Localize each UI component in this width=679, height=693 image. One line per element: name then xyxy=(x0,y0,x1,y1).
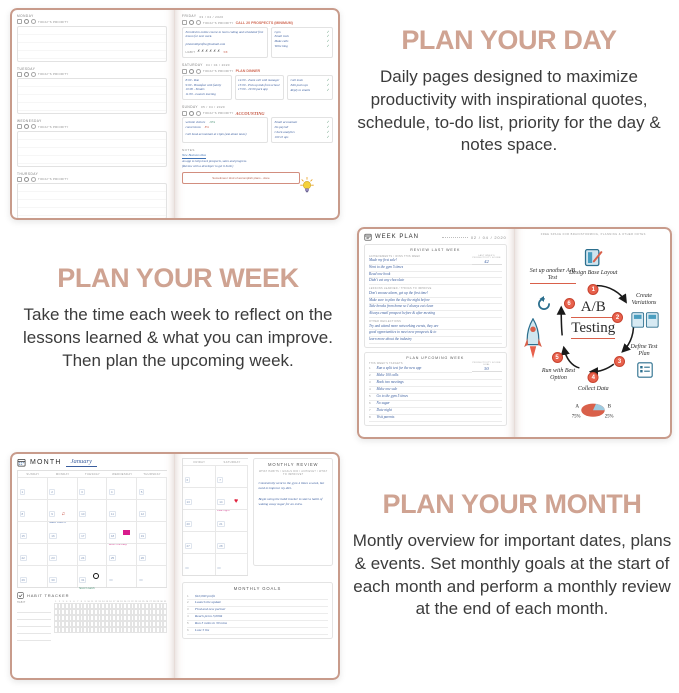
metric-value: 10% xyxy=(209,120,215,125)
habit-cell[interactable] xyxy=(163,627,167,633)
day-meta: TODAY'S PRIORITY xyxy=(17,19,167,24)
day-name: THURSDAY xyxy=(17,172,167,176)
day-notes-area xyxy=(17,78,167,114)
calendar-cell[interactable]: 4 xyxy=(107,477,137,499)
calendar-icon xyxy=(17,458,26,467)
target-item: 5Go to the gym 5 times xyxy=(369,394,502,401)
cloud-icon xyxy=(17,19,22,24)
habit-cell-area: 1234567891011121314151617181920212223242… xyxy=(54,601,167,641)
monthly-review-caption: WHAT HABITS / GOALS DID I ACHIEVE? / WHA… xyxy=(258,470,328,476)
goal-text: $10,000 profit xyxy=(195,594,215,600)
calendar-cell[interactable]: 27 xyxy=(183,531,216,553)
ab-testing-diagram: A/B Testing Design Base Layout 1 Create … xyxy=(522,240,666,405)
day-block: THURSDAY TODAY'S PRIORITY xyxy=(17,172,167,220)
date-number: 14 xyxy=(217,499,224,505)
notes-title: NOTES xyxy=(182,148,333,152)
habit-name-line[interactable] xyxy=(17,634,51,641)
goal-text: Lose 5 lbs xyxy=(195,628,209,634)
day-headline: PLAN YOUR DAY xyxy=(344,26,674,54)
goal-number: 6 xyxy=(187,628,192,634)
target-text: Make one sale xyxy=(377,387,398,393)
step-label-5: Run with Best Option xyxy=(542,368,576,382)
schedule-item: 11:00 - Launch meeting xyxy=(186,92,229,97)
cloud-icon xyxy=(182,111,187,116)
day-header: SUNDAY 05 / 04 / 2020 xyxy=(182,105,333,110)
metric-label: conversions xyxy=(186,125,201,130)
day-date: 05 / 04 / 2020 xyxy=(201,105,225,109)
habit-name-line[interactable] xyxy=(17,627,51,634)
day-email: johnsmithprofile@hotmail.com xyxy=(186,42,265,47)
calendar-cell[interactable]: 24 xyxy=(78,543,108,565)
day-date: 03 / 04 / 2020 xyxy=(199,15,223,19)
metric-value: 8% xyxy=(205,125,209,130)
calendar-cell[interactable]: 21 xyxy=(216,509,249,531)
calendar-cell[interactable] xyxy=(216,553,249,575)
calendar-cell[interactable]: 1 xyxy=(18,477,48,499)
step-label-4: Collect Data xyxy=(569,386,617,393)
day-name: SATURDAY xyxy=(182,63,203,67)
habit-tracker-header: HABIT TRACKER xyxy=(17,592,167,599)
lesson-item: Make sure to plan the day the night befo… xyxy=(369,298,502,305)
target-number: 1 xyxy=(369,366,374,372)
goal-number: 4 xyxy=(187,614,192,620)
upcoming-title: PLAN UPCOMING WEEK xyxy=(369,356,502,360)
metric-row: conversions 8% xyxy=(186,125,265,130)
date-number: 18 xyxy=(109,533,116,539)
notes-heading: New Business Idea xyxy=(182,153,206,159)
day-name: SUNDAY xyxy=(182,105,198,109)
plan-your-week-text: PLAN YOUR WEEK Take the time each week t… xyxy=(8,264,348,372)
moon-icon xyxy=(24,72,29,77)
calendar-icon xyxy=(364,233,372,241)
goal-text: Find and new partner xyxy=(195,607,226,613)
pie-chart-icon: A B 75% 25% xyxy=(571,397,615,419)
calendar-cell[interactable]: 15 xyxy=(18,521,48,543)
month-title: MONTH xyxy=(30,459,62,466)
date-number xyxy=(139,579,143,581)
day-todo-box: Call mom✓ Edit push ups✓ Reply to emails… xyxy=(287,75,333,100)
date-number: 3 xyxy=(79,489,85,495)
calendar-grid-right: FRIDAY SATURDAY 6 7 13 14 ♥ Date night 2… xyxy=(182,458,248,576)
step-node-5: 5 xyxy=(552,352,563,363)
habit-name-column: HABIT xyxy=(17,601,51,641)
calendar-cell[interactable]: 7 xyxy=(216,465,249,487)
layout-icon xyxy=(583,248,603,268)
today-priority-label: TODAY'S PRIORITY xyxy=(203,111,234,115)
schedule-box-am: 8:00 - Run 9:00 - Breakfast with family … xyxy=(182,75,232,100)
date-number: 4 xyxy=(109,489,115,495)
day-block-friday: FRIDAY 03 / 04 / 2020 TODAY'S PRIORITY C… xyxy=(182,14,333,58)
moon-icon xyxy=(189,69,194,74)
month-header: MONTH January xyxy=(17,458,167,467)
goal-text: Reach press 3,000k xyxy=(195,614,222,620)
date-number: 28 xyxy=(217,543,224,549)
calendar-grid-left: SUNDAY MONDAY TUESDAY WEDNESDAY THURSDAY… xyxy=(17,470,167,588)
goal-item: 1$10,000 profit xyxy=(187,594,328,601)
target-text: Book two meetings xyxy=(377,380,404,386)
schedule-box-pm: 14:00 - Zoom call with manager 15:00 - P… xyxy=(235,75,285,100)
goal-item: 2Launch the update xyxy=(187,600,328,607)
today-priority-label: TODAY'S PRIORITY xyxy=(38,20,69,24)
calendar-cell[interactable]: 13 xyxy=(183,487,216,509)
day-meta: TODAY'S PRIORITY xyxy=(17,177,167,182)
goal-number: 2 xyxy=(187,600,192,606)
checkbox-icon xyxy=(17,592,24,599)
day-priority: CALL 20 PROSPECTS (MINIMUM) xyxy=(236,21,293,25)
step-node-6: 6 xyxy=(564,298,575,309)
date-number: 12 xyxy=(139,511,146,517)
sun-icon xyxy=(196,20,201,25)
goal-number: 5 xyxy=(187,621,192,627)
pie-label-b: B xyxy=(608,403,612,409)
target-number: 3 xyxy=(369,380,374,386)
month-headline: PLAN YOUR MONTH xyxy=(348,490,676,518)
habit-rows xyxy=(54,603,167,633)
date-number: 24 xyxy=(79,555,86,561)
sun-icon xyxy=(196,69,201,74)
sun-icon xyxy=(31,177,36,182)
date-number: 15 xyxy=(20,533,27,539)
moon-icon xyxy=(24,177,29,182)
target-text: Visit parents xyxy=(377,415,395,421)
month-left-page: MONTH January SUNDAY MONDAY TUESDAY WEDN… xyxy=(10,452,175,680)
date-number: 27 xyxy=(185,543,192,549)
step-label-3: Define Test Plan xyxy=(627,344,661,358)
product-feature-page: MONDAY TODAY'S PRIORITY TUESDAY TODAY'S … xyxy=(0,0,679,693)
calendar-cell[interactable]: 23 xyxy=(48,543,78,565)
day-priority: PLAN DINNER xyxy=(236,69,261,73)
calendar-cell[interactable]: 9 ♫ Music concert xyxy=(48,499,78,521)
todo-item: Write blog✓ xyxy=(275,44,330,49)
day-date: 04 / 04 / 2020 xyxy=(206,63,230,67)
habit-marks: ✗✗✗✗✗✗ xyxy=(197,49,221,54)
quote-box: Sometimes I kind of accomplish plans - d… xyxy=(182,172,300,183)
checklist-icon xyxy=(637,362,653,378)
pie-value-a: 75% xyxy=(572,415,581,419)
calendar-cell[interactable]: 12 xyxy=(137,499,167,521)
day-meta: TODAY'S PRIORITY ACCOUNTING xyxy=(182,111,333,116)
goal-item: 3Find and new partner xyxy=(187,607,328,614)
sun-icon xyxy=(31,124,36,129)
target-number: 2 xyxy=(369,373,374,379)
todo-text: 100 x5 ups xyxy=(275,135,289,140)
step-node-4: 4 xyxy=(588,372,599,383)
today-priority-label: TODAY'S PRIORITY xyxy=(38,177,69,181)
plan-your-day-text: PLAN YOUR DAY Daily pages designed to ma… xyxy=(344,26,674,157)
moon-icon xyxy=(189,111,194,116)
date-number: 5 xyxy=(139,489,145,495)
calendar-cell[interactable]: 28 xyxy=(216,531,249,553)
sun-icon xyxy=(31,19,36,24)
heart-icon: ♥ xyxy=(234,498,238,505)
target-number: 5 xyxy=(369,394,374,400)
calendar-right-column: FRIDAY SATURDAY 6 7 13 14 ♥ Date night 2… xyxy=(182,458,248,576)
habit-label: HABIT xyxy=(186,50,196,54)
day-meta: TODAY'S PRIORITY PLAN DINNER xyxy=(182,69,333,74)
review-last-week-panel: REVIEW LAST WEEK LAST WEEK'S PRODUCTIVIT… xyxy=(364,244,507,348)
date-number: 17 xyxy=(79,533,86,539)
calendar-cell[interactable]: 14 ♥ Date night xyxy=(216,487,249,509)
day-block-sunday: SUNDAY 05 / 04 / 2020 TODAY'S PRIORITY A… xyxy=(182,105,333,143)
todo-item: 100 x5 ups✓ xyxy=(275,135,330,140)
week-date: 02 / 04 / 2020 xyxy=(471,235,507,240)
goal-number: 1 xyxy=(187,594,192,600)
month-right-columns: FRIDAY SATURDAY 6 7 13 14 ♥ Date night 2… xyxy=(182,458,333,576)
date-number: 30 xyxy=(49,577,56,583)
metric-note: Call book accountant at 11pm (ask about … xyxy=(186,132,265,137)
notes-body: New Business Idea An app to help track p… xyxy=(182,153,333,168)
date-number: 8 xyxy=(20,511,26,517)
target-item: 3Book two meetings xyxy=(369,380,502,387)
check-icon: ✓ xyxy=(327,44,330,49)
date-number: 26 xyxy=(139,555,146,561)
variations-icon xyxy=(631,312,659,330)
date-number: 11 xyxy=(109,511,116,517)
achievement-item: Didn't eat any chocolate xyxy=(369,278,502,285)
calendar-cell[interactable]: 30 xyxy=(48,565,78,587)
day-notes-area xyxy=(17,26,167,62)
target-text: Go to the gym 5 times xyxy=(377,394,408,400)
soccer-ball-icon xyxy=(93,573,99,579)
calendar-cell[interactable] xyxy=(107,565,137,587)
goal-text: Run 3 miles in 30 mins xyxy=(195,621,227,627)
daily-planner-photo: MONDAY TODAY'S PRIORITY TUESDAY TODAY'S … xyxy=(10,8,340,220)
plan-upcoming-week-panel: PLAN UPCOMING WEEK PRODUCTIVITY SCORE GO… xyxy=(364,352,507,426)
day-content-row: website visitors 10% conversions 8% Call… xyxy=(182,117,333,143)
goal-item: 6Lose 5 lbs xyxy=(187,628,328,635)
monthly-review-panel: MONTHLY REVIEW WHAT HABITS / GOALS DID I… xyxy=(253,458,333,566)
goal-text: Launch the update xyxy=(195,600,221,606)
step-node-2: 2 xyxy=(612,312,623,323)
cloud-icon xyxy=(17,72,22,77)
sun-icon xyxy=(31,72,36,77)
month-name: January xyxy=(66,458,97,467)
weekly-planner-photo: WEEK PLAN 02 / 04 / 2020 REVIEW LAST WEE… xyxy=(357,227,672,439)
habit-name-line[interactable] xyxy=(17,613,51,620)
day-block: TUESDAY TODAY'S PRIORITY xyxy=(17,67,167,115)
score-value: 42 xyxy=(472,259,502,264)
day-meta: TODAY'S PRIORITY CALL 20 PROSPECTS (MINI… xyxy=(182,20,333,25)
target-text: Make 100 calls xyxy=(377,373,399,379)
calendar-cell[interactable]: 5 xyxy=(137,477,167,499)
target-item: 6No sugar xyxy=(369,401,502,408)
habit-name-line[interactable] xyxy=(17,606,51,613)
date-number: 9 xyxy=(49,511,55,517)
music-note-icon: ♫ xyxy=(61,511,65,517)
week-plan-title: WEEK PLAN xyxy=(375,234,419,240)
target-text: Date night xyxy=(377,408,392,414)
calendar-cell[interactable]: 6 xyxy=(183,465,216,487)
calendar-cell[interactable] xyxy=(137,565,167,587)
center-line-2: Testing xyxy=(571,320,615,339)
reflection-item: Try and attend more networking events, t… xyxy=(369,324,502,331)
today-priority-label: TODAY'S PRIORITY xyxy=(38,125,69,129)
pie-label-a: A xyxy=(576,403,580,409)
calendar-event: Soccer match xyxy=(79,587,105,591)
date-number: 23 xyxy=(49,555,56,561)
month-right-page: FRIDAY SATURDAY 6 7 13 14 ♥ Date night 2… xyxy=(175,452,340,680)
calendar-cell[interactable] xyxy=(183,553,216,575)
review-title: REVIEW LAST WEEK xyxy=(369,248,502,252)
lesson-item: Always email prospect before & after mee… xyxy=(369,311,502,318)
target-item: 7Date night xyxy=(369,408,502,415)
calendar-cell[interactable]: 31 Soccer match xyxy=(78,565,108,587)
habit-tracker-title: HABIT TRACKER xyxy=(27,593,69,598)
calendar-cell[interactable]: 22 xyxy=(18,543,48,565)
date-number: 7 xyxy=(217,477,223,483)
gift-icon xyxy=(123,530,130,535)
todo-text: Reply to emails xyxy=(291,88,311,93)
date-number: 2 xyxy=(49,489,55,495)
week-body: Take the time each week to reflect on th… xyxy=(8,304,348,372)
habit-name-line[interactable] xyxy=(17,620,51,627)
goal-item: 4Reach press 3,000k xyxy=(187,614,328,621)
step-node-1: 1 xyxy=(588,284,599,295)
calendar-cell[interactable]: 20 xyxy=(183,509,216,531)
date-number: 13 xyxy=(185,499,192,505)
calendar-cell[interactable]: 2 xyxy=(48,477,78,499)
productivity-score: LAST WEEK'S PRODUCTIVITY SCORE 42 xyxy=(472,255,502,265)
today-priority-label: TODAY'S PRIORITY xyxy=(203,21,234,25)
month-body: Montly overview for important dates, pla… xyxy=(348,530,676,620)
day-block: WEDNESDAY TODAY'S PRIORITY xyxy=(17,119,167,167)
lightbulb-icon xyxy=(300,177,314,194)
day-body: Daily pages designed to maximize product… xyxy=(344,66,674,156)
step-label-2: Create Variations xyxy=(625,293,663,307)
todo-item: Reply to emails✓ xyxy=(291,88,330,93)
day-notes-box: Enrolled in online course to learn codin… xyxy=(182,27,268,58)
cloud-icon xyxy=(17,177,22,182)
calendar-cell[interactable]: 10 xyxy=(78,499,108,521)
date-number: 10 xyxy=(79,511,86,517)
target-number: 6 xyxy=(369,401,374,407)
monthly-review-text: Begin using the habit tracker to start a… xyxy=(258,497,328,508)
reflection-item: good opportunities to meet new prospects… xyxy=(369,330,502,337)
step-label-6: Set up another A/B Test xyxy=(530,268,576,284)
metrics-box: website visitors 10% conversions 8% Call… xyxy=(182,117,268,143)
today-priority-label: TODAY'S PRIORITY xyxy=(203,69,234,73)
target-score: PRODUCTIVITY SCORE GOAL 50 xyxy=(472,362,502,372)
week-header: WEEK PLAN 02 / 04 / 2020 xyxy=(364,233,507,241)
date-number: 25 xyxy=(109,555,116,561)
day-priority: ACCOUNTING xyxy=(236,111,265,116)
week-date-line: 02 / 04 / 2020 xyxy=(442,235,507,240)
diagram-center-label: A/B Testing xyxy=(571,299,615,339)
day-notes-area xyxy=(17,131,167,167)
day-block: MONDAY TODAY'S PRIORITY xyxy=(17,14,167,62)
moon-icon xyxy=(189,20,194,25)
free-space-caption: FREE SPACE FOR BRAINSTORMING, PLANNING &… xyxy=(522,233,666,236)
daily-left-page: MONDAY TODAY'S PRIORITY TUESDAY TODAY'S … xyxy=(10,8,175,220)
achievement-item: Went to the gym 5 times xyxy=(369,265,502,272)
day-header: FRIDAY 03 / 04 / 2020 xyxy=(182,14,333,19)
todo-text: Write blog xyxy=(275,44,288,49)
day-meta: TODAY'S PRIORITY xyxy=(17,72,167,77)
date-number: 31 xyxy=(79,577,86,583)
calendar-cell[interactable]: 19 xyxy=(137,521,167,543)
target-text: Run a split test for the new app xyxy=(377,366,422,372)
reflection-item: learn more about the industry xyxy=(369,337,502,344)
calendar-cell[interactable]: 8 xyxy=(18,499,48,521)
habit-row xyxy=(54,627,167,633)
rocket-icon xyxy=(524,318,542,360)
achievement-item: Read one book xyxy=(369,272,502,279)
calendar-cell[interactable]: 17 xyxy=(78,521,108,543)
calendar-cell[interactable]: 26 xyxy=(137,543,167,565)
calendar-cell[interactable]: 16 xyxy=(48,521,78,543)
date-number: 1 xyxy=(20,489,26,495)
monthly-review-column: MONTHLY REVIEW WHAT HABITS / GOALS DID I… xyxy=(253,458,333,576)
lesson-item: Take breaks from home so I always eat cl… xyxy=(369,304,502,311)
cloud-icon xyxy=(182,69,187,74)
week-right-page: FREE SPACE FOR BRAINSTORMING, PLANNING &… xyxy=(515,227,673,439)
day-block-saturday: SATURDAY 04 / 04 / 2020 TODAY'S PRIORITY… xyxy=(182,63,333,100)
moon-icon xyxy=(24,124,29,129)
day-content-row: Enrolled in online course to learn codin… xyxy=(182,27,333,58)
date-number: 21 xyxy=(217,521,224,527)
check-icon: ✓ xyxy=(327,135,330,140)
date-number: 22 xyxy=(20,555,27,561)
day-note-text: Enrolled in online course to learn codin… xyxy=(186,30,265,39)
monthly-goals-title: MONTHLY GOALS xyxy=(187,586,328,591)
target-item: 4Make one sale xyxy=(369,387,502,394)
pie-value-b: 25% xyxy=(605,415,614,419)
target-text: No sugar xyxy=(377,401,390,407)
calendar-cell[interactable]: 3 xyxy=(78,477,108,499)
monthly-goals-panel: MONTHLY GOALS 1$10,000 profit 2Launch th… xyxy=(182,582,333,639)
target-score-value: 50 xyxy=(472,366,502,371)
monthly-review-title: MONTHLY REVIEW xyxy=(258,462,328,467)
day-header: SATURDAY 04 / 04 / 2020 xyxy=(182,63,333,68)
target-number: 8 xyxy=(369,415,374,421)
lesson-item: Don't snooze alarm, get up the first tim… xyxy=(369,291,502,298)
target-number: 7 xyxy=(369,408,374,414)
center-line-1: A/B xyxy=(571,299,615,318)
date-number xyxy=(185,567,189,569)
plan-your-month-text: PLAN YOUR MONTH Montly overview for impo… xyxy=(348,490,676,621)
calendar-cell[interactable]: 11 xyxy=(107,499,137,521)
date-number: 20 xyxy=(185,521,192,527)
goal-item: 5Run 3 miles in 30 mins xyxy=(187,621,328,628)
day-name: TUESDAY xyxy=(17,67,167,71)
cloud-icon xyxy=(17,124,22,129)
goal-number: 3 xyxy=(187,607,192,613)
day-name: WEDNESDAY xyxy=(17,119,167,123)
sun-icon xyxy=(196,111,201,116)
date-number xyxy=(109,579,113,581)
notes-line: (Review with a developer to get it built… xyxy=(182,164,333,169)
target-item: 8Visit parents xyxy=(369,415,502,422)
target-number: 4 xyxy=(369,387,374,393)
date-number: 16 xyxy=(49,533,56,539)
score-caption: LAST WEEK'S PRODUCTIVITY SCORE xyxy=(472,255,502,259)
habit-tracker-grid: HABIT 1234567891011121314151617181920212… xyxy=(17,601,167,641)
schedule-item: 17:00 - 19:00 park app xyxy=(238,87,281,92)
day-content-row: 8:00 - Run 9:00 - Breakfast with family … xyxy=(182,75,333,100)
date-number: 29 xyxy=(20,577,27,583)
divider xyxy=(442,237,468,238)
day-meta: TODAY'S PRIORITY xyxy=(17,124,167,129)
day-notes-area xyxy=(17,183,167,219)
calendar-cell[interactable]: 18 Mom's birthday xyxy=(107,521,137,543)
calendar-cell[interactable]: 25 xyxy=(107,543,137,565)
day-todo-box: Gym✓ Email Jack✓ Make calls✓ Write blog✓ xyxy=(271,27,333,58)
calendar-cell[interactable]: 29 xyxy=(18,565,48,587)
monthly-planner-photo: MONTH January SUNDAY MONDAY TUESDAY WEDN… xyxy=(10,452,340,680)
step-node-3: 3 xyxy=(614,356,625,367)
check-icon: ✓ xyxy=(327,88,330,93)
date-number: 6 xyxy=(185,477,191,483)
